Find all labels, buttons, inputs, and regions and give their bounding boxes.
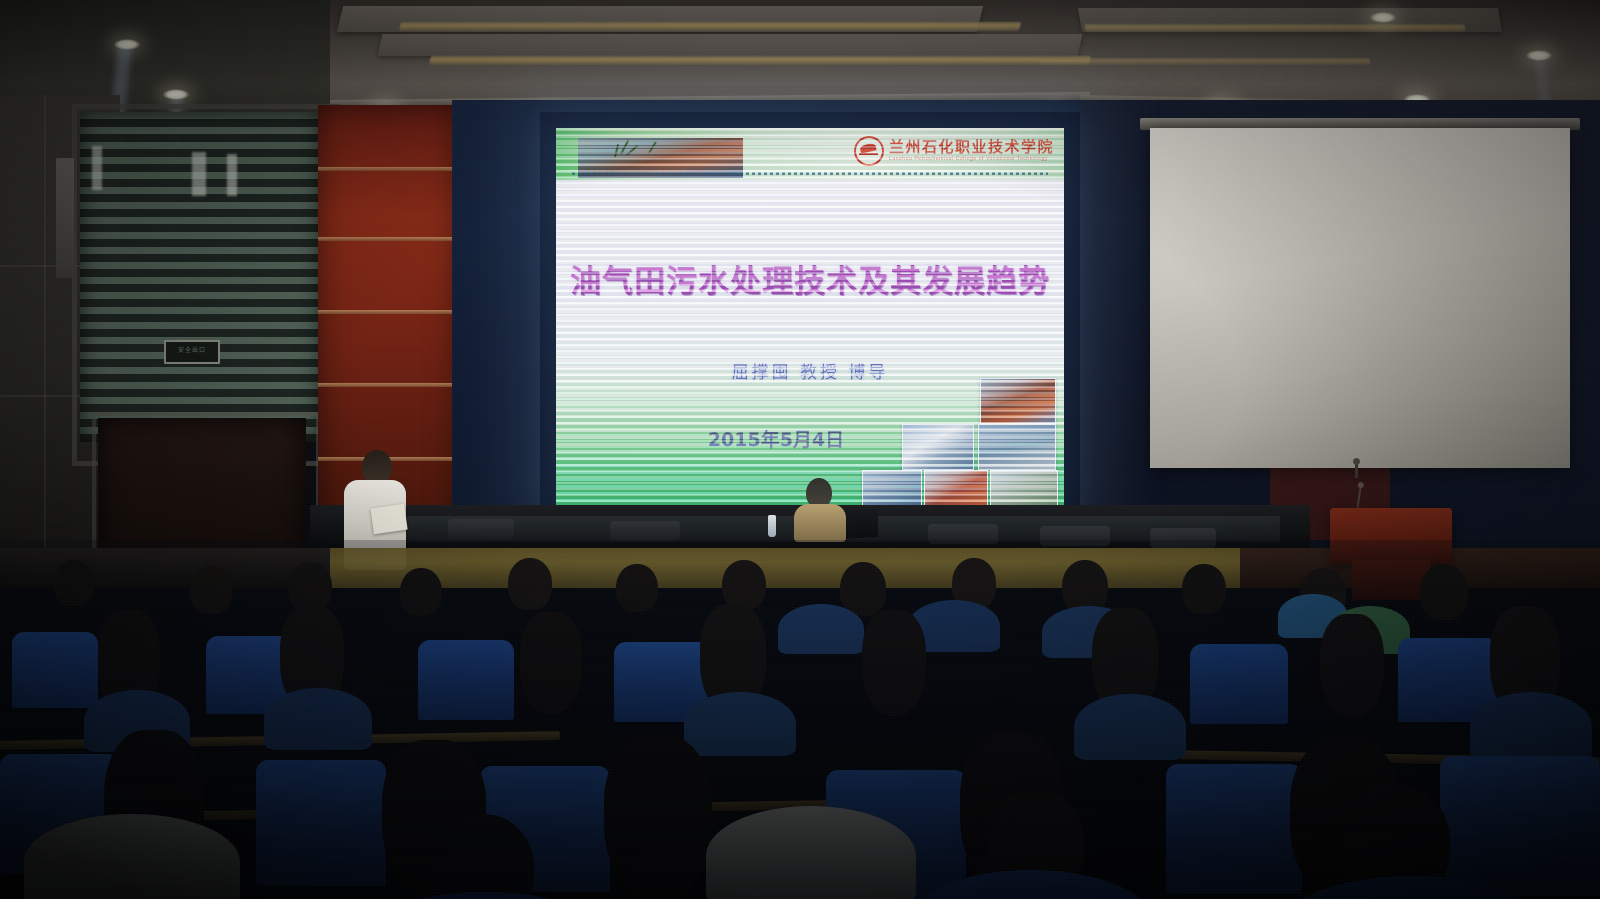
audience-head <box>722 560 766 610</box>
wood-panel-seam <box>318 310 458 314</box>
audience-shoulders <box>264 688 372 750</box>
cove-light <box>399 22 1021 31</box>
exit-sign: 安全出口 <box>164 340 220 364</box>
theater-seat <box>1166 764 1302 894</box>
slide-header-banner: 兰州石化职业技术学院 Lanzhou Petrochemical College… <box>556 128 1064 180</box>
audience-shoulders <box>684 692 796 756</box>
audience-head <box>190 566 232 614</box>
college-seal-icon <box>854 136 884 166</box>
audience-shoulders-grey-shirt <box>24 814 240 899</box>
audience-shoulders <box>1074 694 1186 760</box>
audience-head <box>54 560 94 606</box>
collage-photo <box>980 378 1056 424</box>
reading-paper <box>370 504 407 534</box>
institution-logo-block: 兰州石化职业技术学院 Lanzhou Petrochemical College… <box>854 136 1054 166</box>
audience-head <box>520 612 582 714</box>
collage-photo <box>924 470 988 506</box>
louver-highlight <box>192 152 206 196</box>
recessed-downlight <box>1370 12 1396 23</box>
institution-name-cn: 兰州石化职业技术学院 <box>889 140 1054 155</box>
audience-shoulders <box>778 604 864 654</box>
wall-speaker <box>56 158 74 278</box>
louver-highlight <box>227 154 237 196</box>
collage-photo <box>902 424 974 470</box>
cove-light <box>1084 24 1465 32</box>
auditorium-photo: 安全出口 <box>0 0 1600 899</box>
audience-head <box>862 610 926 716</box>
audience-head <box>616 564 658 612</box>
collage-photo <box>862 470 922 506</box>
header-divider <box>572 172 1048 175</box>
speaker-head <box>362 450 392 484</box>
slide-date: 2015年5月4日 <box>676 425 876 452</box>
audience-head <box>840 562 886 616</box>
audience-shoulders-grey-shirt <box>706 806 916 899</box>
audience-shoulders <box>352 892 618 899</box>
ceiling-panel <box>378 34 1083 56</box>
student-audience-blue-uniforms <box>0 540 1600 899</box>
audience-head <box>400 568 442 616</box>
theater-seat <box>256 760 386 886</box>
institution-name-block: 兰州石化职业技术学院 Lanzhou Petrochemical College… <box>889 140 1054 162</box>
exit-sign-label: 安全出口 <box>166 342 218 360</box>
wood-panel-seam <box>318 383 458 387</box>
wood-panel-seam <box>318 167 458 171</box>
host-body <box>794 504 846 542</box>
stage-microphone <box>1355 462 1358 478</box>
recessed-downlight <box>1526 50 1552 61</box>
wood-panel-seam <box>318 237 458 241</box>
wall-seam <box>44 95 46 565</box>
audience-shoulders <box>1470 692 1592 762</box>
room-shell: 安全出口 <box>0 0 1600 899</box>
cove-light <box>1039 58 1370 65</box>
stage-chair <box>610 521 680 541</box>
stage-chair <box>448 519 514 539</box>
louver-highlight <box>92 146 102 190</box>
audience-head <box>1182 564 1226 614</box>
audience-head <box>288 562 332 612</box>
theater-seat <box>1440 756 1600 896</box>
collage-photo <box>978 424 1056 470</box>
seated-host-at-table <box>794 478 848 540</box>
audience-head <box>604 736 712 899</box>
campus-photo-collage <box>862 378 1058 504</box>
recessed-downlight <box>114 39 140 50</box>
recessed-downlight <box>163 89 189 100</box>
audience-head <box>508 558 552 610</box>
projected-slide: 兰州石化职业技术学院 Lanzhou Petrochemical College… <box>556 128 1064 506</box>
audience-head <box>1320 614 1384 718</box>
theater-seat <box>1190 644 1288 724</box>
cove-light <box>429 56 1091 65</box>
slide-title: 油气田污水处理技术及其发展趋势 <box>556 256 1064 301</box>
theater-seat <box>418 640 514 720</box>
institution-name-en: Lanzhou Petrochemical College of Vocatio… <box>889 157 1054 162</box>
theater-seat <box>12 632 98 708</box>
audience-head <box>1420 564 1468 620</box>
water-bottle <box>768 515 776 537</box>
collage-photo <box>990 470 1058 506</box>
blank-side-projection-screen <box>1150 128 1570 468</box>
